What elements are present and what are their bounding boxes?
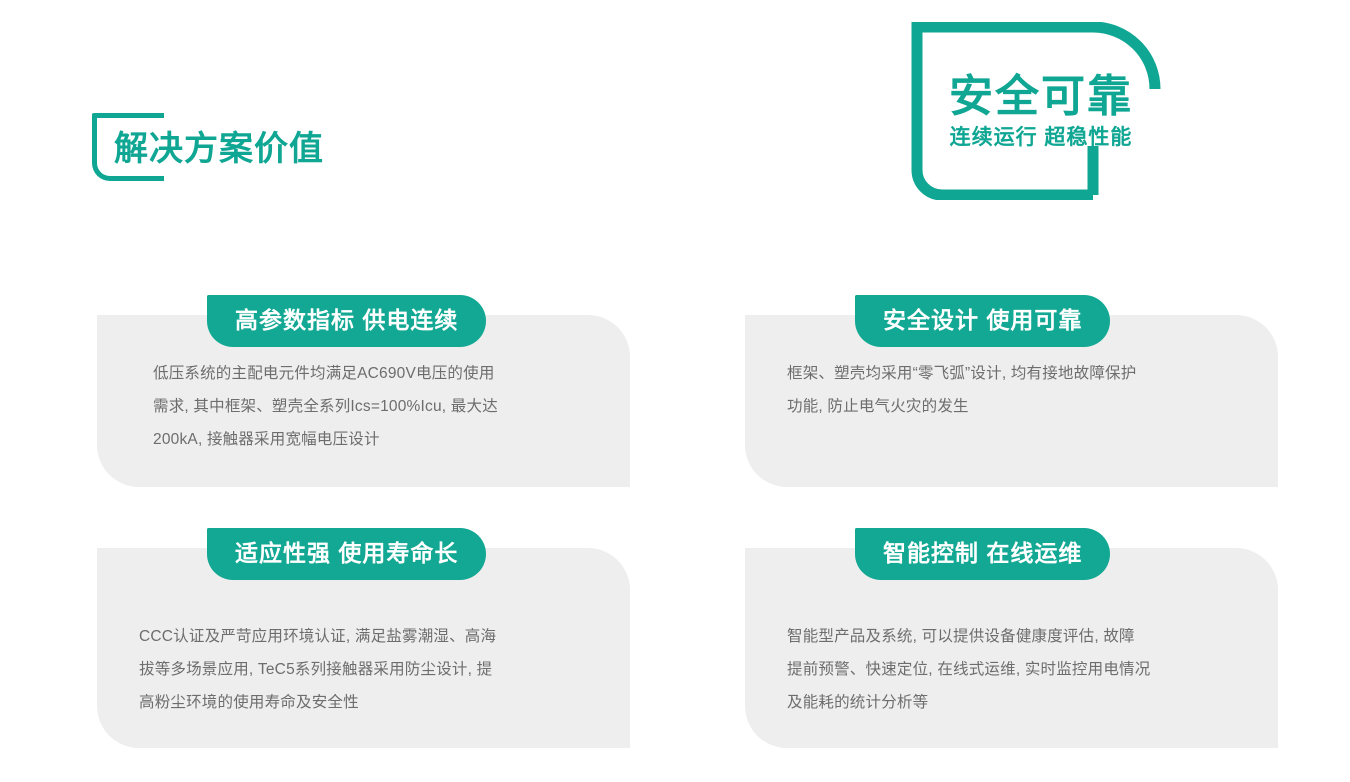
value-card: 适应性强 使用寿命长 CCC认证及严苛应用环境认证, 满足盐雾潮湿、高海 拔等多… [97, 528, 630, 627]
card-body-line: 功能, 防止电气火灾的发生 [787, 390, 1227, 423]
card-body: 智能型产品及系统, 可以提供设备健康度评估, 故障 提前预警、快速定位, 在线式… [787, 620, 1227, 719]
card-pill-title: 高参数指标 供电连续 [207, 295, 486, 347]
card-body-line: 低压系统的主配电元件均满足AC690V电压的使用 [153, 357, 565, 390]
card-body-line: 智能型产品及系统, 可以提供设备健康度评估, 故障 [787, 620, 1227, 653]
card-body-line: 拔等多场景应用, TeC5系列接触器采用防尘设计, 提 [139, 653, 571, 686]
value-cards-grid: 高参数指标 供电连续 低压系统的主配电元件均满足AC690V电压的使用 需求, … [0, 0, 1350, 782]
value-card: 高参数指标 供电连续 低压系统的主配电元件均满足AC690V电压的使用 需求, … [97, 295, 630, 394]
card-body-line: 200kA, 接触器采用宽幅电压设计 [153, 423, 565, 456]
card-body-line: 及能耗的统计分析等 [787, 686, 1227, 719]
card-pill-title: 适应性强 使用寿命长 [207, 528, 486, 580]
card-body-line: 提前预警、快速定位, 在线式运维, 实时监控用电情况 [787, 653, 1227, 686]
card-body-line: CCC认证及严苛应用环境认证, 满足盐雾潮湿、高海 [139, 620, 571, 653]
card-body: CCC认证及严苛应用环境认证, 满足盐雾潮湿、高海 拔等多场景应用, TeC5系… [139, 620, 571, 719]
value-card: 安全设计 使用可靠 框架、塑壳均采用“零飞弧”设计, 均有接地故障保护 功能, … [745, 295, 1278, 361]
card-body-line: 高粉尘环境的使用寿命及安全性 [139, 686, 571, 719]
value-card: 智能控制 在线运维 智能型产品及系统, 可以提供设备健康度评估, 故障 提前预警… [745, 528, 1278, 627]
card-body: 低压系统的主配电元件均满足AC690V电压的使用 需求, 其中框架、塑壳全系列I… [153, 357, 565, 456]
card-body-line: 框架、塑壳均采用“零飞弧”设计, 均有接地故障保护 [787, 357, 1227, 390]
card-pill-title: 智能控制 在线运维 [855, 528, 1110, 580]
page-title: 解决方案价值 [114, 132, 324, 166]
card-pill-title: 安全设计 使用可靠 [855, 295, 1110, 347]
card-body: 框架、塑壳均采用“零飞弧”设计, 均有接地故障保护 功能, 防止电气火灾的发生 [787, 357, 1227, 423]
card-body-line: 需求, 其中框架、塑壳全系列Ics=100%Icu, 最大达 [153, 390, 565, 423]
